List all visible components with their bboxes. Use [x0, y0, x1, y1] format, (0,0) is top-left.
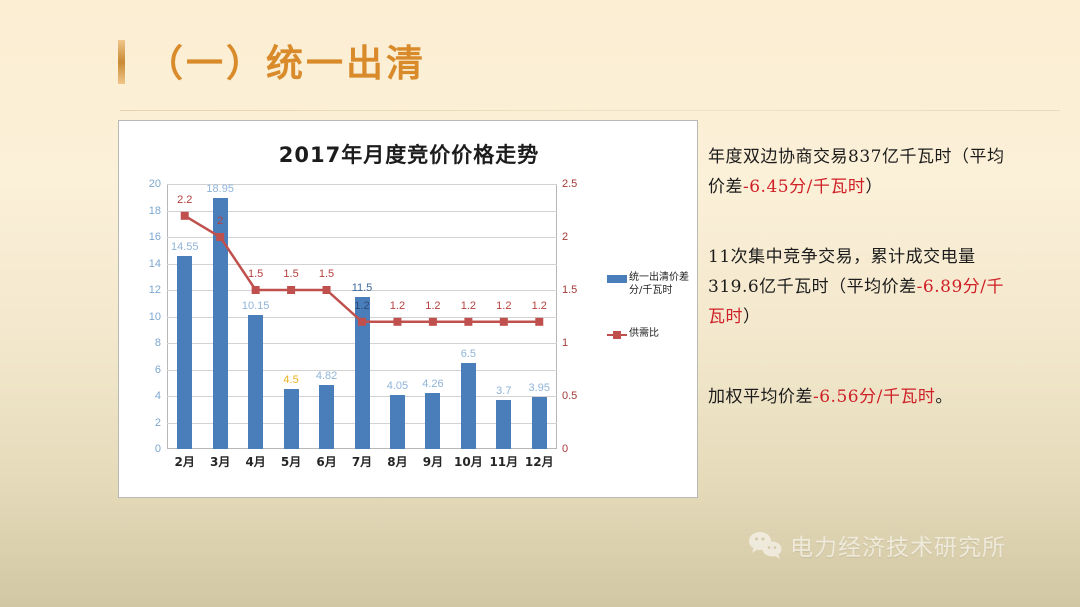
y-axis-left-tick: 20: [149, 178, 161, 190]
x-axis-tick: 9月: [423, 453, 443, 470]
line-marker: [216, 233, 224, 241]
x-axis-tick: 12月: [525, 453, 554, 470]
watermark: 电力经济技术研究所: [748, 528, 1006, 562]
legend-bar-swatch-icon: [607, 275, 627, 283]
chart-legend: 统一出清价差分/千瓦时 供需比: [607, 271, 695, 370]
x-axis-tick: 2月: [175, 453, 195, 470]
y-axis-right-tick: 0.5: [562, 390, 577, 402]
y-axis-right-tick: 1: [562, 337, 568, 349]
x-axis-tick: 10月: [454, 453, 483, 470]
y-axis-left-tick: 18: [149, 205, 161, 217]
line-value-label: 1.2: [461, 300, 476, 312]
line-value-label: 1.5: [319, 268, 334, 280]
note3-text-post: 。: [935, 387, 953, 407]
x-axis-tick: 4月: [245, 453, 265, 470]
title-accent-bar: [118, 40, 125, 84]
y-axis-left-tick: 14: [149, 258, 161, 270]
line-value-label: 2.2: [177, 194, 192, 206]
y-axis-left-tick: 0: [155, 443, 161, 455]
note3-text-pre: 加权平均价差: [708, 387, 813, 407]
y-axis-left-tick: 2: [155, 417, 161, 429]
y-axis-left-tick: 16: [149, 231, 161, 243]
line-marker: [323, 286, 331, 294]
title-divider: [120, 110, 1060, 111]
line-marker: [535, 318, 543, 326]
line-value-label: 1.2: [390, 300, 405, 312]
line-value-label: 1.5: [283, 268, 298, 280]
legend-line-label: 供需比: [629, 327, 659, 340]
x-axis-tick: 6月: [316, 453, 336, 470]
x-axis: 2月3月4月5月6月7月8月9月10月11月12月: [167, 453, 557, 473]
note-centralized-bidding: 11次集中竞争交易，累计成交电量319.6亿千瓦时（平均价差-6.89分/千瓦时…: [708, 242, 1008, 332]
slide-header: （一）统一出清: [0, 0, 1080, 112]
y-axis-right-tick: 0: [562, 443, 568, 455]
x-axis-tick: 5月: [281, 453, 301, 470]
line-value-label: 1.2: [496, 300, 511, 312]
x-axis-tick: 8月: [387, 453, 407, 470]
note1-text-post: ）: [865, 177, 883, 197]
line-value-label: 1.5: [248, 268, 263, 280]
line-value-label: 1.2: [354, 300, 369, 312]
y-axis-right-tick: 1.5: [562, 284, 577, 296]
y-axis-right: 00.511.522.5: [562, 184, 596, 449]
x-axis-tick: 7月: [352, 453, 372, 470]
y-axis-left: 02468101214161820: [129, 184, 161, 449]
x-axis-tick: 3月: [210, 453, 230, 470]
note2-text-post: ）: [743, 307, 761, 327]
line-value-label: 1.2: [425, 300, 440, 312]
line-marker: [252, 286, 260, 294]
chart-card: 2017年月度竞价价格走势 02468101214161820 00.511.5…: [118, 120, 698, 498]
wechat-icon: [748, 530, 782, 560]
y-axis-left-tick: 10: [149, 311, 161, 323]
note-bilateral-trading: 年度双边协商交易837亿千瓦时（平均价差-6.45分/千瓦时）: [708, 142, 1008, 202]
y-axis-left-tick: 6: [155, 364, 161, 376]
y-axis-left-tick: 8: [155, 337, 161, 349]
line-marker: [500, 318, 508, 326]
legend-item-bar: 统一出清价差分/千瓦时: [607, 271, 695, 297]
watermark-text: 电力经济技术研究所: [790, 528, 1006, 562]
y-axis-left-tick: 12: [149, 284, 161, 296]
legend-bar-label: 统一出清价差分/千瓦时: [629, 271, 695, 297]
line-marker: [464, 318, 472, 326]
line-marker: [287, 286, 295, 294]
line-value-label: 1.2: [532, 300, 547, 312]
line-marker: [393, 318, 401, 326]
y-axis-left-tick: 4: [155, 390, 161, 402]
x-axis-tick: 11月: [489, 453, 518, 470]
note1-highlight: -6.45分/千瓦时: [743, 177, 865, 197]
line-marker: [181, 212, 189, 220]
note-weighted-average: 加权平均价差-6.56分/千瓦时。: [708, 382, 1008, 412]
line-value-label: 2: [217, 215, 223, 227]
legend-line-swatch-icon: [607, 331, 627, 339]
line-series: [167, 184, 557, 449]
page-title: （一）统一出清: [146, 33, 426, 87]
y-axis-right-tick: 2: [562, 231, 568, 243]
chart-title: 2017年月度竞价价格走势: [119, 139, 699, 169]
plot-area: 14.5518.9510.154.54.8211.54.054.266.53.7…: [167, 184, 557, 449]
y-axis-right-tick: 2.5: [562, 178, 577, 190]
legend-item-line: 供需比: [607, 327, 695, 340]
line-marker: [429, 318, 437, 326]
line-marker: [358, 318, 366, 326]
note3-highlight: -6.56分/千瓦时: [813, 387, 935, 407]
